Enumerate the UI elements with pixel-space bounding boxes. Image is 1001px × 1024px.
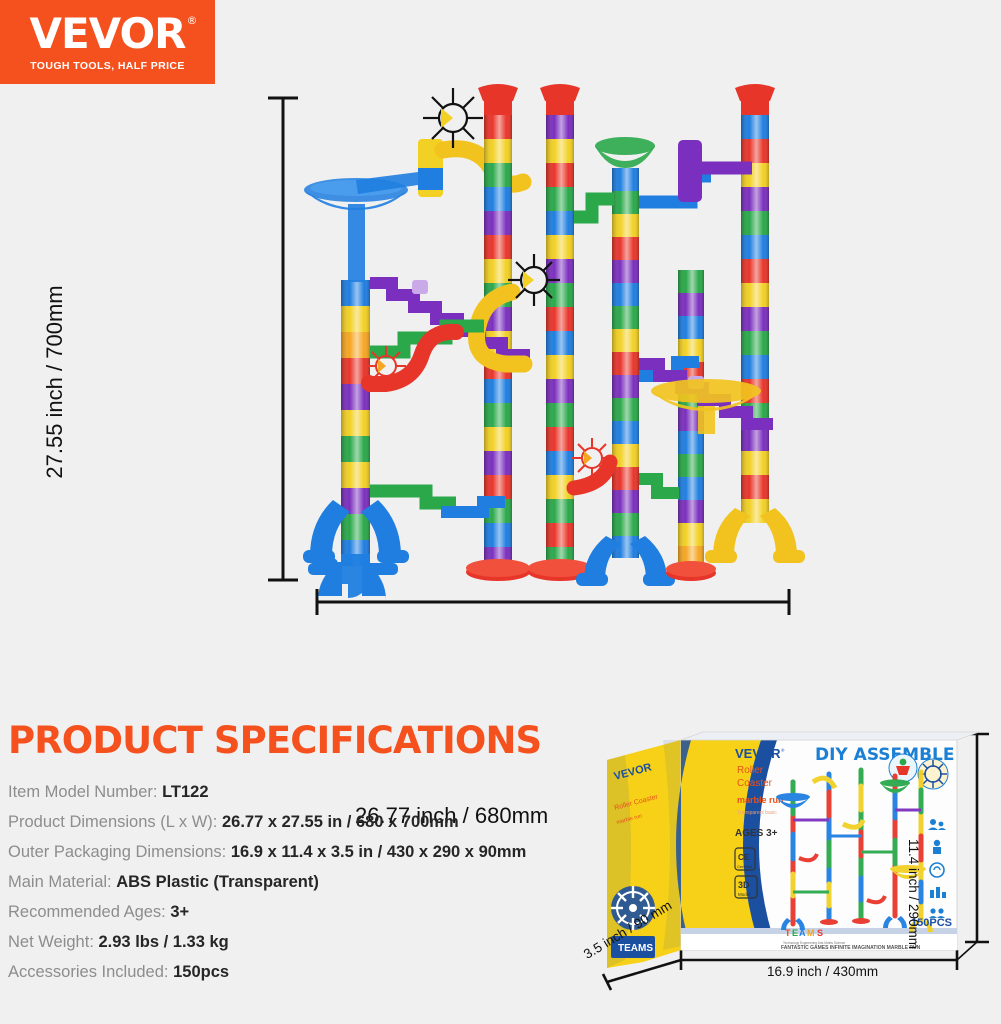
green-funnel xyxy=(595,137,655,168)
teams-logo: T xyxy=(785,928,791,938)
spec-row-net-weight: Net Weight: 2.93 lbs / 1.33 kg xyxy=(8,927,608,957)
spec-row-accessories: Accessories Included: 150pcs xyxy=(8,957,608,987)
specifications-section: PRODUCT SPECIFICATIONS Item Model Number… xyxy=(8,722,608,987)
brand-logo-bar: VEVOR ® TOUGH TOOLS, HALF PRICE xyxy=(0,0,215,84)
spinner-wheel-icon xyxy=(366,346,406,386)
package-width-label: 16.9 inch / 430mm xyxy=(767,964,878,979)
spec-value: 2.93 lbs / 1.33 kg xyxy=(99,933,229,951)
lower-orange-chute xyxy=(572,438,612,488)
bottom-strap-text: FANTASTIC GAMES INFINITE IMAGINATION MAR… xyxy=(781,945,921,951)
spec-label: Item Model Number: xyxy=(8,783,157,801)
package-illustration: VEVOR Roller Coaster marble run TEAMS xyxy=(585,724,1001,1024)
purple-connector-top xyxy=(678,140,752,202)
spec-label: Net Weight: xyxy=(8,933,94,951)
package-top-face xyxy=(681,732,979,740)
spec-row-model: Item Model Number: LT122 xyxy=(8,777,608,807)
svg-text:Model: Model xyxy=(738,892,750,897)
spec-value: 26.77 x 27.55 in / 680 x 700mm xyxy=(222,813,459,831)
spec-value: 150pcs xyxy=(173,963,229,981)
spinner-wheel-icon xyxy=(423,88,483,148)
green-connector-top xyxy=(574,199,614,217)
blue-funnel-plate xyxy=(304,178,408,282)
svg-text:M: M xyxy=(807,928,815,938)
product-diagram: 27.55 inch / 700mm 26.77 inch / 680mm xyxy=(0,84,1001,694)
svg-text:E: E xyxy=(792,928,798,938)
svg-text:S: S xyxy=(817,928,823,938)
package-side-teams: TEAMS xyxy=(618,943,653,954)
tower-a xyxy=(303,280,409,600)
specifications-title: PRODUCT SPECIFICATIONS xyxy=(8,722,608,761)
spec-value: 16.9 x 11.4 x 3.5 in / 430 x 290 x 90mm xyxy=(231,843,526,861)
spec-value: ABS Plastic (Transparent) xyxy=(116,873,319,891)
tower-f xyxy=(705,84,805,563)
package-front-ages: AGES 3+ xyxy=(735,828,778,839)
brand-wordmark: VEVOR ® xyxy=(29,13,185,55)
svg-text:A: A xyxy=(799,928,806,938)
spec-value: LT122 xyxy=(162,783,208,801)
package-front-line1: Roller xyxy=(737,765,764,776)
svg-text:Certified: Certified xyxy=(737,864,752,869)
spec-label: Main Material: xyxy=(8,873,112,891)
spec-row-product-dimensions: Product Dimensions (L x W): 26.77 x 27.5… xyxy=(8,807,608,837)
svg-text:CE: CE xyxy=(738,853,750,862)
spec-label: Product Dimensions (L x W): xyxy=(8,813,217,831)
spinner-wheel-icon xyxy=(572,438,612,478)
spec-value: 3+ xyxy=(170,903,189,921)
package-height-label: 11.4 inch / 290mm xyxy=(906,819,921,969)
spec-label: Accessories Included: xyxy=(8,963,169,981)
green-connector-de xyxy=(639,479,679,493)
svg-text:3D: 3D xyxy=(738,880,750,890)
package-front-brand: VEVOR xyxy=(735,746,781,761)
spec-label: Recommended Ages: xyxy=(8,903,166,921)
brand-name: VEVOR xyxy=(29,9,185,58)
package-front-line2: Coaster xyxy=(737,778,773,789)
package-front-sub: Transparent basic xyxy=(737,810,777,816)
spec-row-material: Main Material: ABS Plastic (Transparent) xyxy=(8,867,608,897)
spec-row-packaging-dimensions: Outer Packaging Dimensions: 16.9 x 11.4 … xyxy=(8,837,608,867)
product-height-label: 27.55 inch / 700mm xyxy=(42,232,68,532)
registered-mark-icon: ® xyxy=(187,15,197,26)
green-connector-lower xyxy=(370,491,456,503)
spec-label: Outer Packaging Dimensions: xyxy=(8,843,226,861)
brand-tagline: TOUGH TOOLS, HALF PRICE xyxy=(30,60,185,72)
tower-c xyxy=(528,84,592,581)
spec-row-ages: Recommended Ages: 3+ xyxy=(8,897,608,927)
